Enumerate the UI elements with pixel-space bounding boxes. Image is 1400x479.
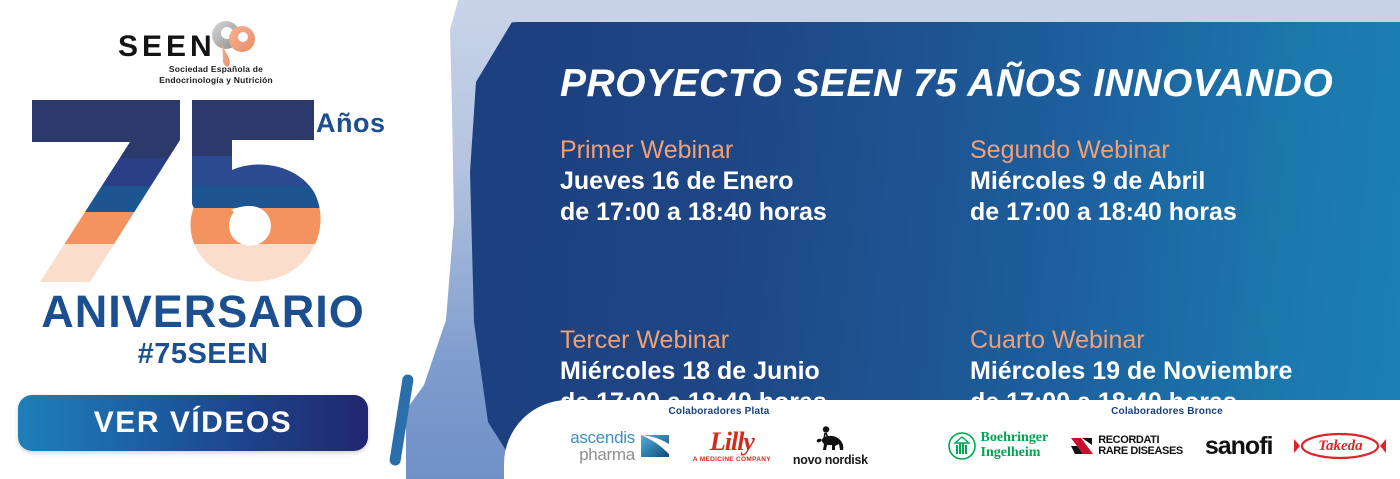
novo-nordisk-bull-icon bbox=[813, 426, 847, 452]
sponsor-logo-novo-nordisk[interactable]: novo nordisk bbox=[793, 426, 868, 467]
boehringer-line1: Boehringer bbox=[981, 431, 1049, 446]
anniversary-75-logo bbox=[24, 96, 334, 286]
webinar-item[interactable]: Primer Webinar Jueves 16 de Enero de 17:… bbox=[560, 136, 970, 228]
lilly-tagline: A MEDICINE COMPANY bbox=[693, 457, 771, 464]
webinar-name: Tercer Webinar bbox=[560, 326, 970, 354]
webinar-date: Miércoles 18 de Junio bbox=[560, 356, 970, 387]
left-brand-block: SEEN Sociedad Española de Endo bbox=[0, 0, 406, 479]
ascendis-mark-icon bbox=[639, 432, 671, 460]
sponsors-silver-group: Colaboradores Plata ascendis pharma bbox=[504, 400, 934, 479]
ascendis-line1: ascendis bbox=[570, 429, 635, 446]
sponsor-logo-boehringer-ingelheim[interactable]: Boehringer Ingelheim bbox=[948, 431, 1049, 460]
novo-nordisk-wordmark: novo nordisk bbox=[793, 454, 868, 467]
hashtag-label: #75SEEN bbox=[0, 338, 406, 371]
seen-logo-subtitle: Sociedad Española de Endocrinología y Nu… bbox=[136, 64, 296, 85]
webinar-date: Miércoles 19 de Noviembre bbox=[970, 356, 1370, 387]
webinar-date: Miércoles 9 de Abril bbox=[970, 166, 1370, 197]
aniversario-label: ANIVERSARIO bbox=[0, 286, 406, 338]
webinar-time: de 17:00 a 18:40 horas bbox=[560, 197, 970, 228]
ver-videos-button[interactable]: VER VÍDEOS bbox=[18, 395, 368, 451]
sponsors-silver-heading: Colaboradores Plata bbox=[668, 406, 769, 417]
anos-label: Años bbox=[316, 108, 386, 139]
promo-banner: SEEN Sociedad Española de Endo bbox=[0, 0, 1400, 479]
boehringer-line2: Ingelheim bbox=[981, 446, 1049, 461]
webinar-item[interactable]: Segundo Webinar Miércoles 9 de Abril de … bbox=[970, 136, 1370, 228]
webinar-time: de 17:00 a 18:40 horas bbox=[970, 197, 1370, 228]
seen-subtitle-line1: Sociedad Española de bbox=[169, 64, 263, 74]
webinar-name: Cuarto Webinar bbox=[970, 326, 1370, 354]
sponsors-bronze-group: Colaboradores Bronce Boehringer Ingelhei… bbox=[934, 400, 1400, 479]
ascendis-line2: pharma bbox=[579, 446, 635, 463]
sponsor-logo-recordati-rare-diseases[interactable]: RECORDATI RARE DISEASES bbox=[1070, 435, 1183, 457]
page-title: PROYECTO SEEN 75 AÑOS INNOVANDO bbox=[560, 62, 1360, 106]
seen-emblem-icon bbox=[202, 20, 264, 68]
webinar-name: Primer Webinar bbox=[560, 136, 970, 164]
seen-subtitle-line2: Endocrinología y Nutrición bbox=[159, 75, 273, 85]
recordati-mark-icon bbox=[1070, 435, 1094, 457]
webinar-name: Segundo Webinar bbox=[970, 136, 1370, 164]
sponsor-logo-takeda[interactable]: Takeda bbox=[1294, 431, 1386, 461]
webinar-date: Jueves 16 de Enero bbox=[560, 166, 970, 197]
sponsors-bar: Colaboradores Plata ascendis pharma bbox=[504, 400, 1400, 479]
sponsor-logo-lilly[interactable]: Lilly A MEDICINE COMPANY bbox=[693, 429, 771, 464]
sponsors-bronze-heading: Colaboradores Bronce bbox=[1111, 406, 1223, 417]
recordati-line2: RARE DISEASES bbox=[1098, 446, 1183, 457]
seen-logo: SEEN Sociedad Española de Endo bbox=[118, 18, 298, 90]
webinar-list: Primer Webinar Jueves 16 de Enero de 17:… bbox=[560, 136, 1370, 418]
takeda-wordmark: Takeda bbox=[1318, 438, 1362, 455]
lilly-wordmark: Lilly bbox=[710, 429, 754, 455]
boehringer-mark-icon bbox=[948, 432, 976, 460]
sponsor-logo-sanofi[interactable]: sanofi bbox=[1205, 432, 1273, 461]
sponsor-logo-ascendis-pharma[interactable]: ascendis pharma bbox=[570, 429, 671, 463]
